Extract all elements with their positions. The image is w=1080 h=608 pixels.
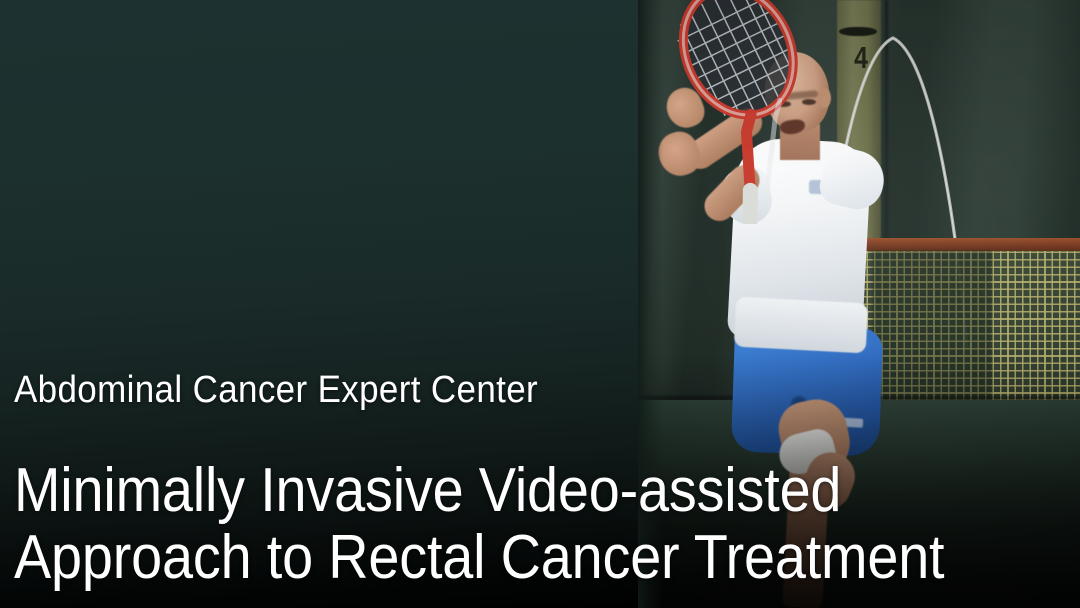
shirt-hem	[734, 297, 868, 354]
title-line-1: Minimally Invasive Video-assisted	[14, 455, 841, 526]
video-title-card: 4	[0, 0, 1080, 608]
title-line-2: Approach to Rectal Cancer Treatment	[14, 522, 944, 593]
organization-subtitle: Abdominal Cancer Expert Center	[14, 369, 538, 412]
